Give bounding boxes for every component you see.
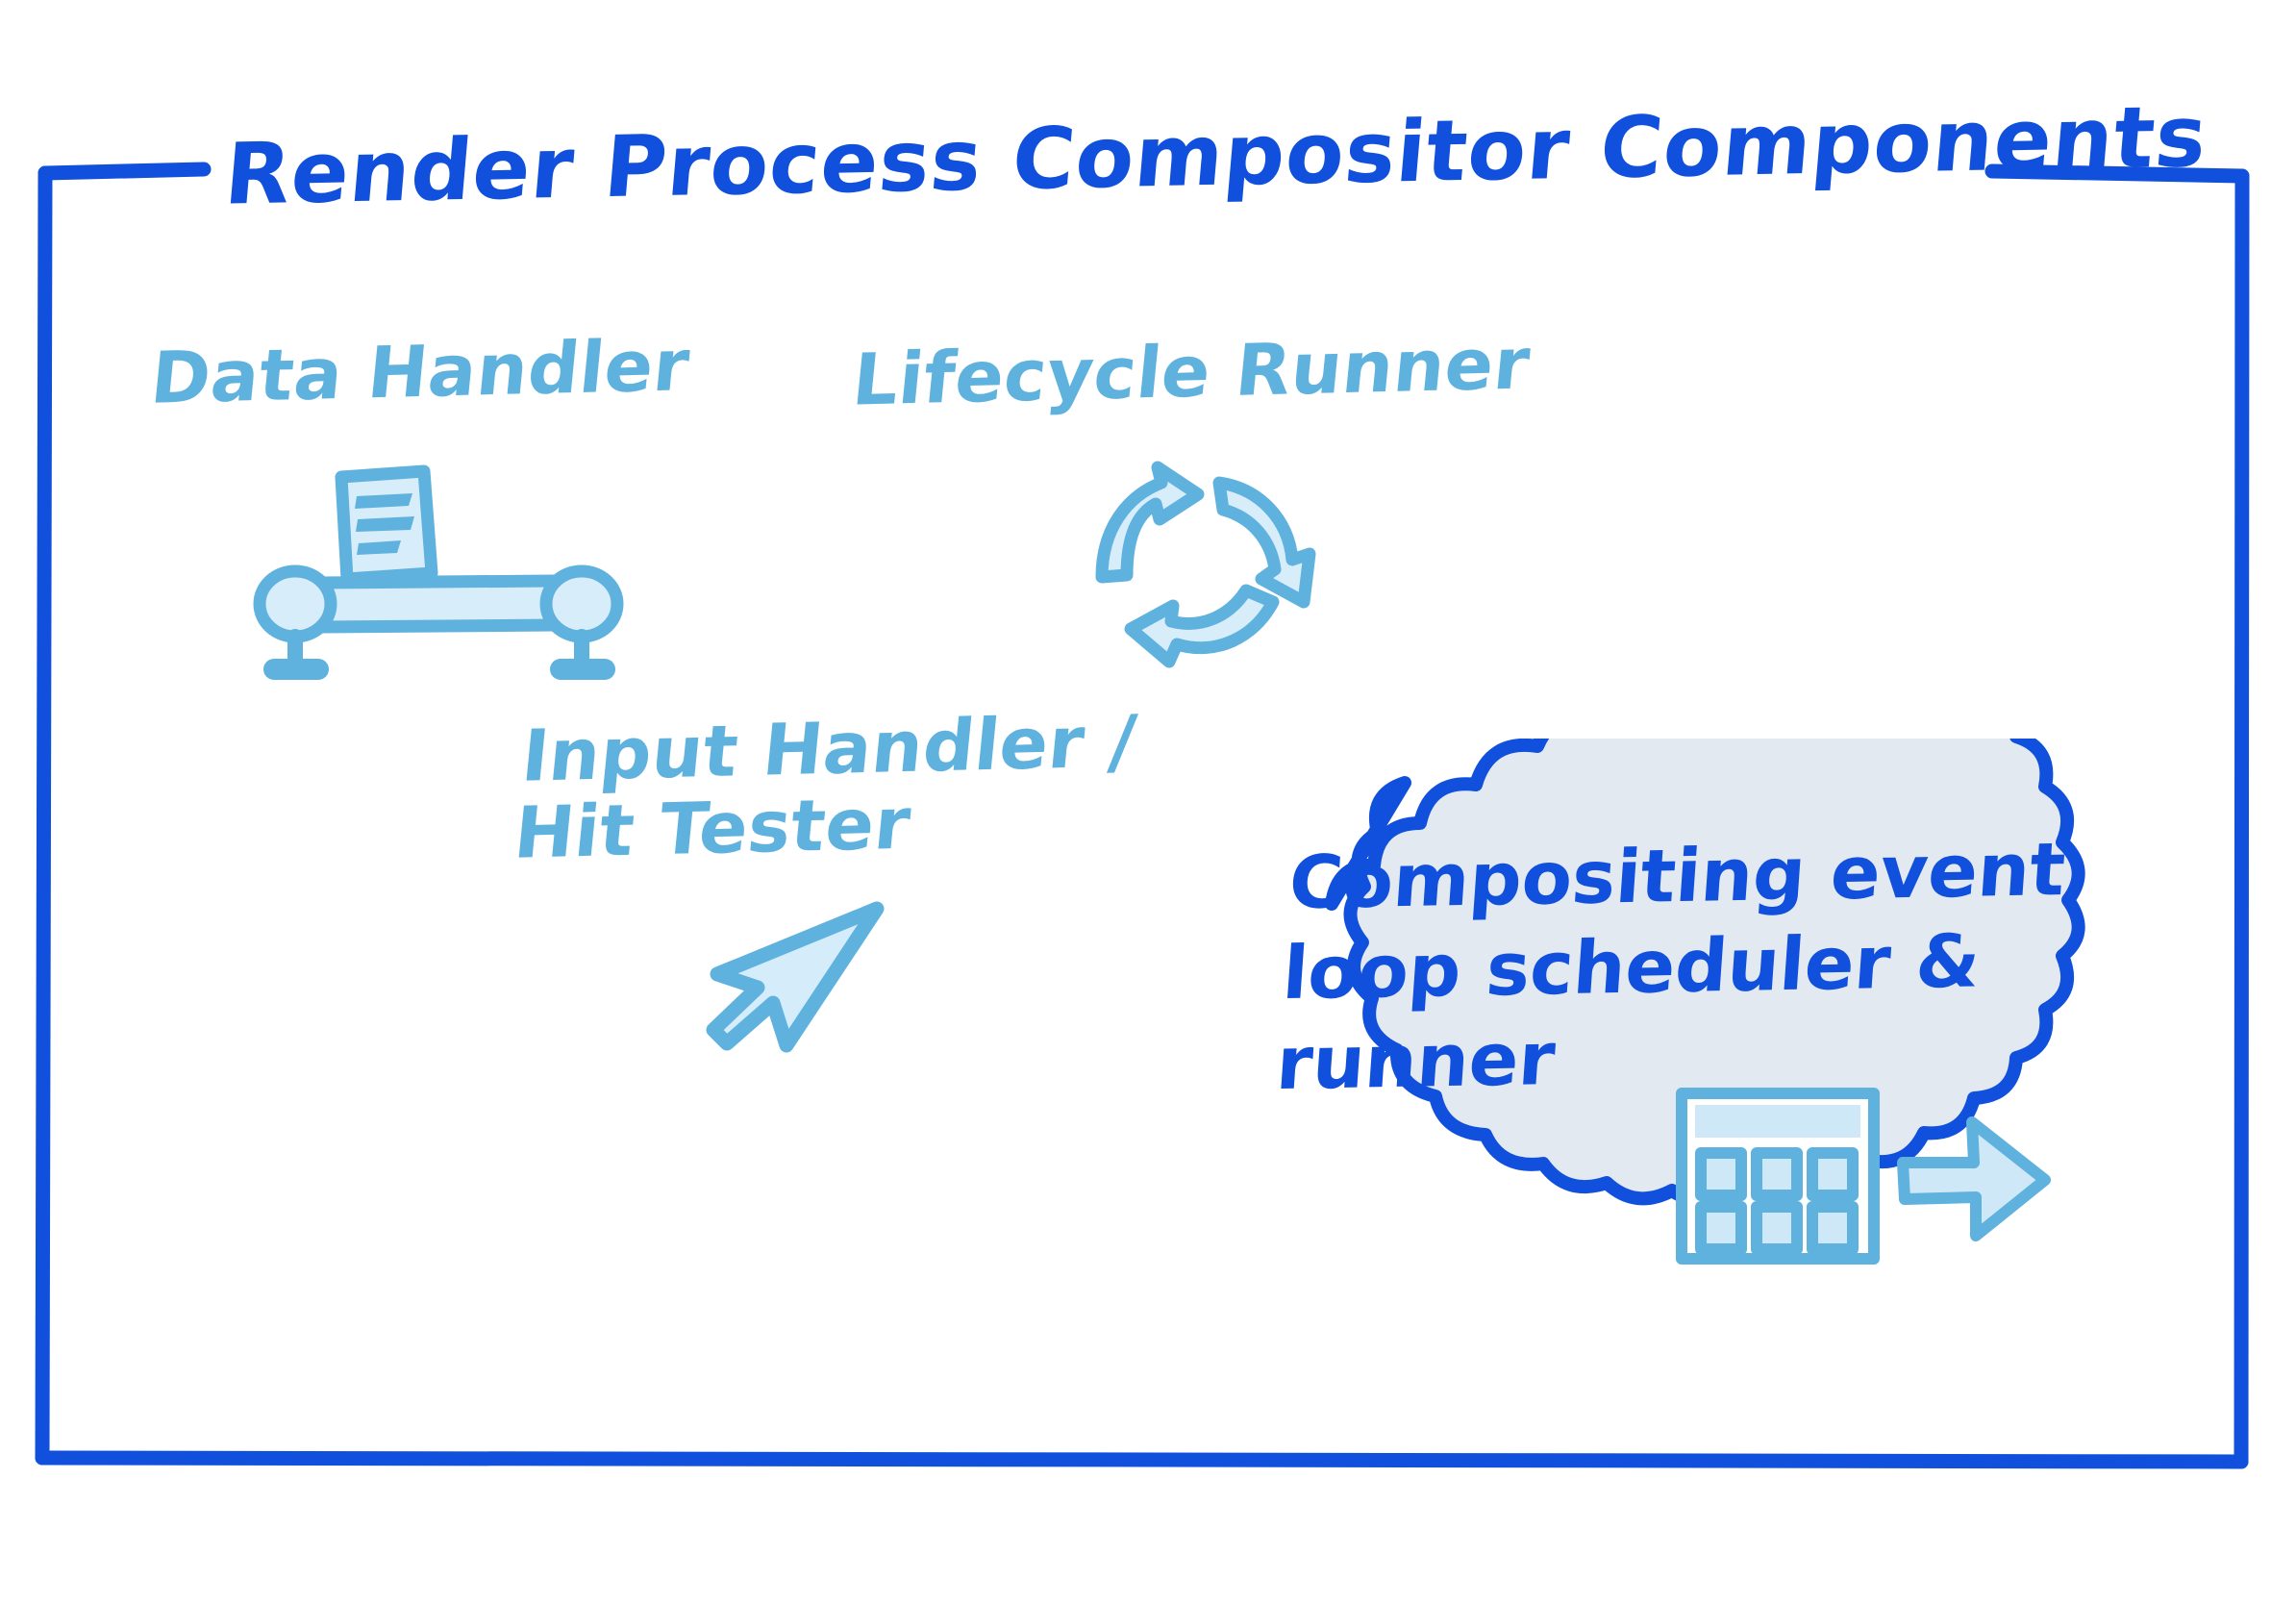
diagram-canvas: Render Process Compositor Components Dat… — [0, 0, 2296, 1604]
component-label-data-handler: Data Handler — [147, 328, 692, 418]
cloud-callout: Compositing event loop scheduler & runne… — [1168, 739, 2235, 1364]
calendar-grid-arrow-icon — [1668, 1080, 2072, 1272]
component-label-lifecycle-runner: Lifecycle Runner — [849, 326, 1534, 419]
page-title: Render Process Compositor Components — [222, 98, 2002, 216]
component-label-input-handler-hit-tester: Input Handler / Hit Tester — [511, 704, 1139, 872]
cloud-label: Compositing event loop scheduler & runne… — [1274, 824, 2083, 1110]
mouse-cursor-icon — [698, 899, 938, 1082]
document-on-bench-icon — [236, 450, 639, 690]
recycle-arrows-icon — [1085, 460, 1402, 676]
